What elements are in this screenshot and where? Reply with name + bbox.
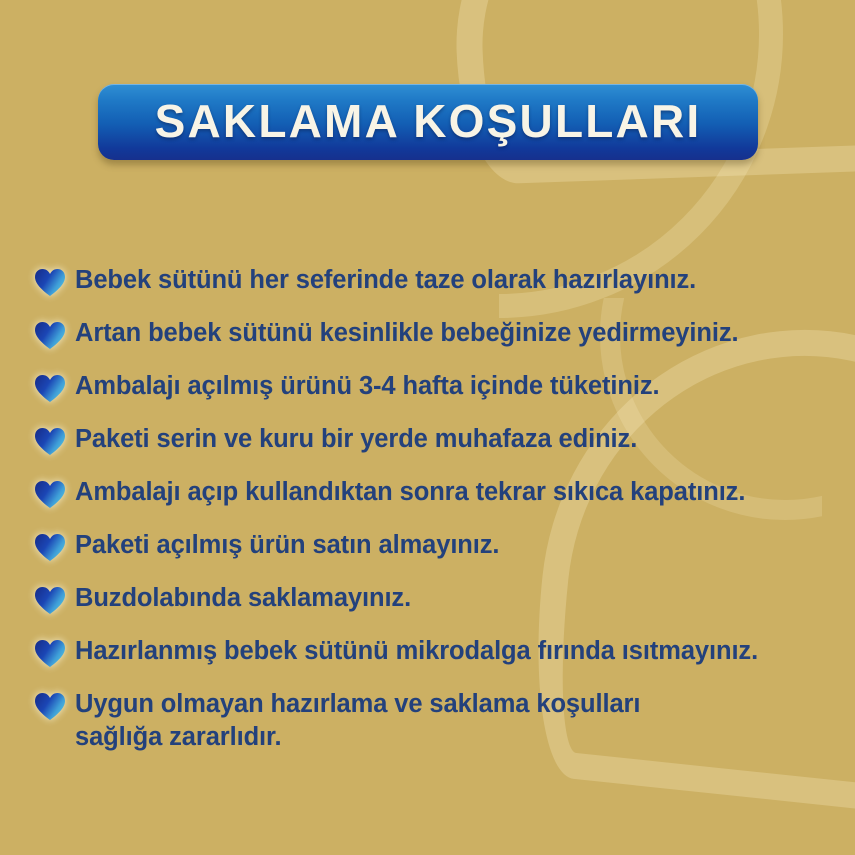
list-item-line-1: Buzdolabında saklamayınız. [75,584,411,612]
list-item-line-2: sağlığa zararlıdır. [75,721,640,754]
list-item: Ambalajı açıp kullandıktan sonra tekrar … [34,476,834,517]
heart-icon [34,321,66,350]
list-item-text: Artan bebek sütünü kesinlikle bebeğinize… [75,317,738,350]
list-item-text: Hazırlanmış bebek sütünü mikrodalga fırı… [75,635,758,668]
list-item: Uygun olmayan hazırlama ve saklama koşul… [34,688,834,753]
list-item-text: Bebek sütünü her seferinde taze olarak h… [75,264,696,297]
list-item-line-1: Paketi açılmış ürün satın almayınız. [75,531,499,559]
list-item: Bebek sütünü her seferinde taze olarak h… [34,264,834,305]
heart-icon [34,533,66,562]
heart-icon [34,268,66,297]
title-banner: SAKLAMA KOŞULLARI [98,84,758,160]
heart-icon [34,374,66,403]
list-item-text: Uygun olmayan hazırlama ve saklama koşul… [75,688,640,753]
list-item-text: Paketi açılmış ürün satın almayınız. [75,529,499,562]
list-item: Paketi açılmış ürün satın almayınız. [34,529,834,570]
list-item-line-1: Paketi serin ve kuru bir yerde muhafaza … [75,425,637,453]
heart-icon [34,586,66,615]
list-item-text: Paketi serin ve kuru bir yerde muhafaza … [75,423,637,456]
list-item: Paketi serin ve kuru bir yerde muhafaza … [34,423,834,464]
list-item-line-1: Bebek sütünü her seferinde taze olarak h… [75,266,696,294]
list-item-line-1: Artan bebek sütünü kesinlikle bebeğinize… [75,319,738,347]
heart-icon [34,639,66,668]
conditions-list: Bebek sütünü her seferinde taze olarak h… [34,264,834,765]
list-item-text: Ambalajı açıp kullandıktan sonra tekrar … [75,476,745,509]
list-item: Artan bebek sütünü kesinlikle bebeğinize… [34,317,834,358]
list-item-text: Ambalajı açılmış ürünü 3-4 hafta içinde … [75,370,659,403]
page-title: SAKLAMA KOŞULLARI [155,98,702,147]
storage-conditions-poster: SAKLAMA KOŞULLARI [0,0,855,855]
list-item: Buzdolabında saklamayınız. [34,582,834,623]
list-item: Ambalajı açılmış ürünü 3-4 hafta içinde … [34,370,834,411]
list-item-line-1: Ambalajı açılmış ürünü 3-4 hafta içinde … [75,372,659,400]
list-item: Hazırlanmış bebek sütünü mikrodalga fırı… [34,635,834,676]
list-item-line-1: Hazırlanmış bebek sütünü mikrodalga fırı… [75,637,758,665]
heart-icon [34,427,66,456]
heart-icon [34,480,66,509]
list-item-line-1: Uygun olmayan hazırlama ve saklama koşul… [75,690,640,718]
list-item-text: Buzdolabında saklamayınız. [75,582,411,615]
heart-icon [34,692,66,721]
list-item-line-1: Ambalajı açıp kullandıktan sonra tekrar … [75,478,745,506]
